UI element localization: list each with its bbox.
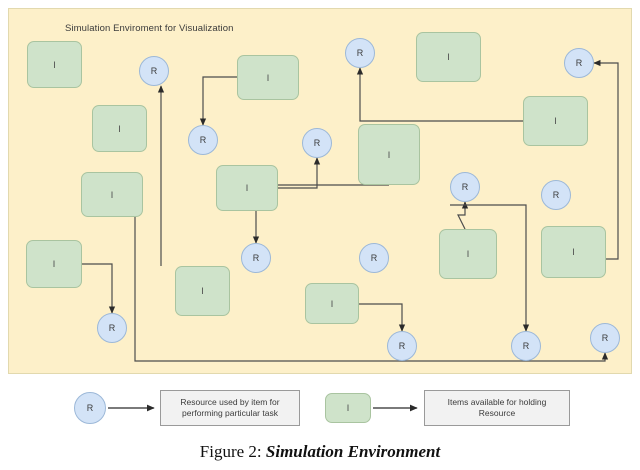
- item-node[interactable]: I: [523, 96, 588, 146]
- item-node[interactable]: I: [175, 266, 230, 316]
- edge-connector: [82, 264, 112, 313]
- legend-resource-symbol: R: [74, 392, 106, 424]
- caption-prefix: Figure 2:: [200, 442, 266, 461]
- item-node[interactable]: I: [305, 283, 359, 324]
- item-node[interactable]: I: [26, 240, 82, 288]
- edge-connector: [458, 202, 465, 229]
- resource-node[interactable]: R: [359, 243, 389, 273]
- resource-node[interactable]: R: [302, 128, 332, 158]
- resource-node[interactable]: R: [139, 56, 169, 86]
- diagram-title: Simulation Enviroment for Visualization: [65, 23, 233, 34]
- legend: R Resource used by item for performing p…: [0, 380, 640, 436]
- legend-item-text: Items available for holding Resource: [424, 390, 570, 426]
- item-node[interactable]: I: [541, 226, 606, 278]
- legend-item-symbol: I: [325, 393, 371, 423]
- resource-node[interactable]: R: [564, 48, 594, 78]
- legend-item-arrow-icon: [373, 400, 425, 416]
- item-node[interactable]: I: [81, 172, 143, 217]
- item-node[interactable]: I: [216, 165, 278, 211]
- item-node[interactable]: I: [416, 32, 481, 82]
- legend-resource-text: Resource used by item for performing par…: [160, 390, 300, 426]
- resource-node[interactable]: R: [511, 331, 541, 361]
- resource-node[interactable]: R: [345, 38, 375, 68]
- item-node[interactable]: I: [439, 229, 497, 279]
- item-node[interactable]: I: [237, 55, 299, 100]
- edge-connector: [203, 77, 237, 125]
- resource-node[interactable]: R: [188, 125, 218, 155]
- item-node[interactable]: I: [358, 124, 420, 185]
- resource-node[interactable]: R: [541, 180, 571, 210]
- figure-caption: Figure 2: Simulation Environment: [0, 442, 640, 462]
- resource-node[interactable]: R: [590, 323, 620, 353]
- item-node[interactable]: I: [92, 105, 147, 152]
- edge-connector: [359, 304, 402, 331]
- item-node[interactable]: I: [27, 41, 82, 88]
- resource-node[interactable]: R: [241, 243, 271, 273]
- caption-emphasis: Simulation Environment: [266, 442, 440, 461]
- figure-container: Simulation Enviroment for Visualization …: [0, 0, 640, 470]
- resource-node[interactable]: R: [387, 331, 417, 361]
- resource-node[interactable]: R: [450, 172, 480, 202]
- legend-resource-arrow-icon: [108, 400, 162, 416]
- edge-connector: [278, 158, 317, 188]
- resource-node[interactable]: R: [97, 313, 127, 343]
- simulation-canvas: Simulation Enviroment for Visualization …: [8, 8, 632, 374]
